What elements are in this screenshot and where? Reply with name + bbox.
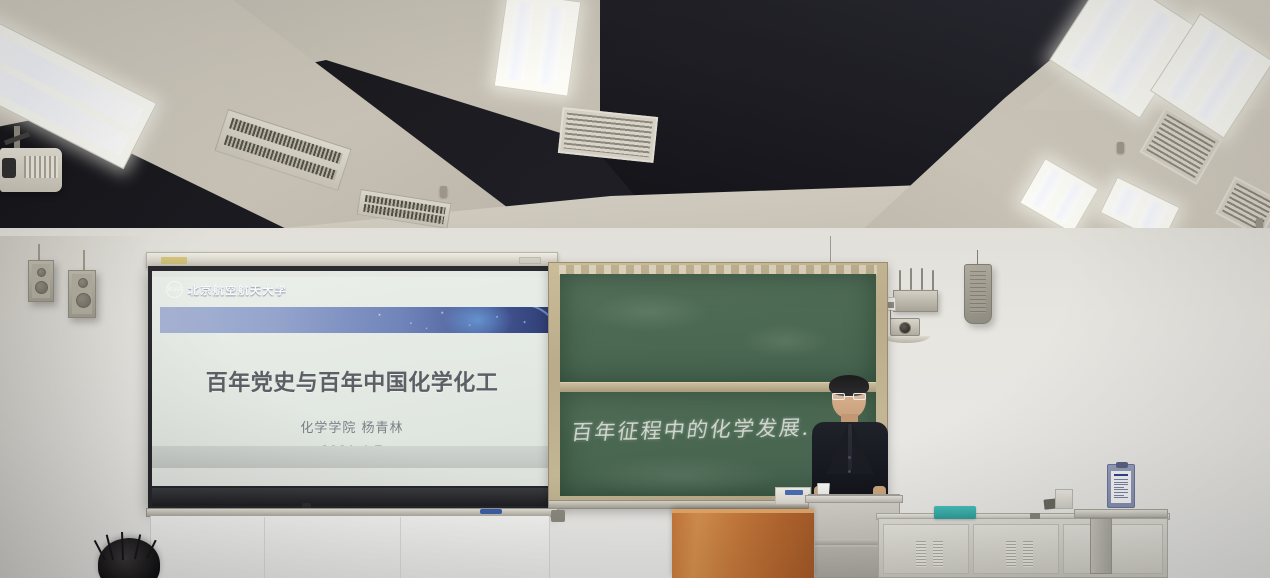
hvac-vent [558,107,658,163]
wall-speaker-left-1 [28,260,54,302]
slide-header-band [160,307,552,333]
chalk-smudge [740,324,830,358]
storage-cabinet[interactable] [878,518,1168,578]
jammer-antenna [921,268,923,290]
shelf-support [1090,518,1112,574]
shelf-extension [1074,509,1168,518]
projection-screen: BUAA 北京航空航天大学 百年党史与百年中国化学化工 化学学院 杨青林 202… [148,266,556,508]
blackboard-panel-top [560,274,876,384]
speaker-cone-icon [35,281,48,294]
projector-lens-icon [2,158,16,178]
document-text-line [1114,479,1128,480]
teal-storage-box [934,506,976,519]
ceiling-projector [0,148,62,192]
chalk-smudge [590,292,710,332]
signal-jammer-device [893,290,938,312]
jammer-antenna [932,270,934,292]
suit-button [848,470,851,473]
document-text-line [1114,497,1128,498]
document-text-line [1114,482,1128,483]
blue-marker[interactable] [480,509,502,514]
whiteboard-seam [400,517,401,578]
document-text-line [1114,487,1124,488]
slide-footer-band [152,446,552,468]
podium-top-edge [672,509,814,513]
screen-bottom-bar [152,488,552,506]
suit-button [848,456,851,459]
lamp-tube [536,6,566,87]
document-heading-line [1114,474,1128,476]
lecture-hall-photo: BUAA 北京航空航天大学 百年党史与百年中国化学化工 化学学院 杨青林 202… [0,0,1270,578]
glasses-lens-left [832,393,845,400]
glasses-bridge [845,396,853,397]
jammer-antenna [899,270,901,292]
housing-bracket [519,257,541,264]
slide-title: 百年党史与百年中国化学化工 [152,365,552,397]
document-text-line [1114,492,1128,493]
jammer-antenna [910,268,912,290]
presentation-slide: BUAA 北京航空航天大学 百年党史与百年中国化学化工 化学学院 杨青林 202… [152,277,552,468]
whiteboard-seam [264,517,265,578]
counter-object [1030,513,1040,519]
speaker-cone-icon [76,293,91,308]
speaker-cone-icon [78,278,88,288]
wooden-podium [672,509,814,578]
ceiling-sensor [440,186,447,197]
speaker-grille [970,271,986,313]
clipboard-with-document[interactable] [1107,464,1135,508]
document-text-line [1114,484,1128,485]
ptz-camera [890,318,920,336]
blackboard-chalk-text: 百年征程中的化学发展... [570,411,831,446]
chalk-smudge [580,454,780,498]
screen-surface: BUAA 北京航空航天大学 百年党史与百年中国化学化工 化学学院 杨青林 202… [152,271,552,486]
cabinet-louver [916,541,926,567]
university-seal-icon: BUAA [166,281,183,298]
lamp-tube [505,1,535,82]
ceiling-sensor [1117,142,1124,153]
document-text-line [1114,489,1128,490]
counter-object [1055,489,1073,509]
whiteboard[interactable] [150,516,550,578]
projector-vent [24,156,58,178]
speaker-cone-icon [37,268,46,277]
cabinet-louver [1023,541,1033,567]
wall-speaker-left-2 [68,270,96,318]
university-name: 北京航空航天大学 [188,282,287,298]
clipboard-clip-icon [1116,462,1128,468]
cabinet-door[interactable] [1063,524,1163,574]
rail-clip [551,510,565,522]
cabinet-louver [933,541,943,567]
camera-lens-icon [899,322,911,334]
glasses-lens-right [853,393,866,400]
vent-slats [563,113,652,158]
cabinet-door[interactable] [973,524,1059,574]
university-logo: BUAA 北京航空航天大学 [166,281,287,298]
cabinet-louver [1006,541,1016,567]
wall-speaker-right [964,264,992,324]
box-label [785,490,803,495]
cabinet-door[interactable] [883,524,969,574]
speaker-hanger [83,250,85,272]
lectern-deck [805,495,903,503]
document-text-line [1114,495,1124,496]
slide-subtitle: 化学学院 杨青林 [152,417,552,436]
slide-arc-decoration [495,307,552,333]
clipboard-document [1111,471,1131,503]
lamp-tube [1111,186,1141,220]
presenter-glasses [832,393,866,400]
ceiling-light-fixture [494,0,582,97]
housing-label [161,257,187,264]
